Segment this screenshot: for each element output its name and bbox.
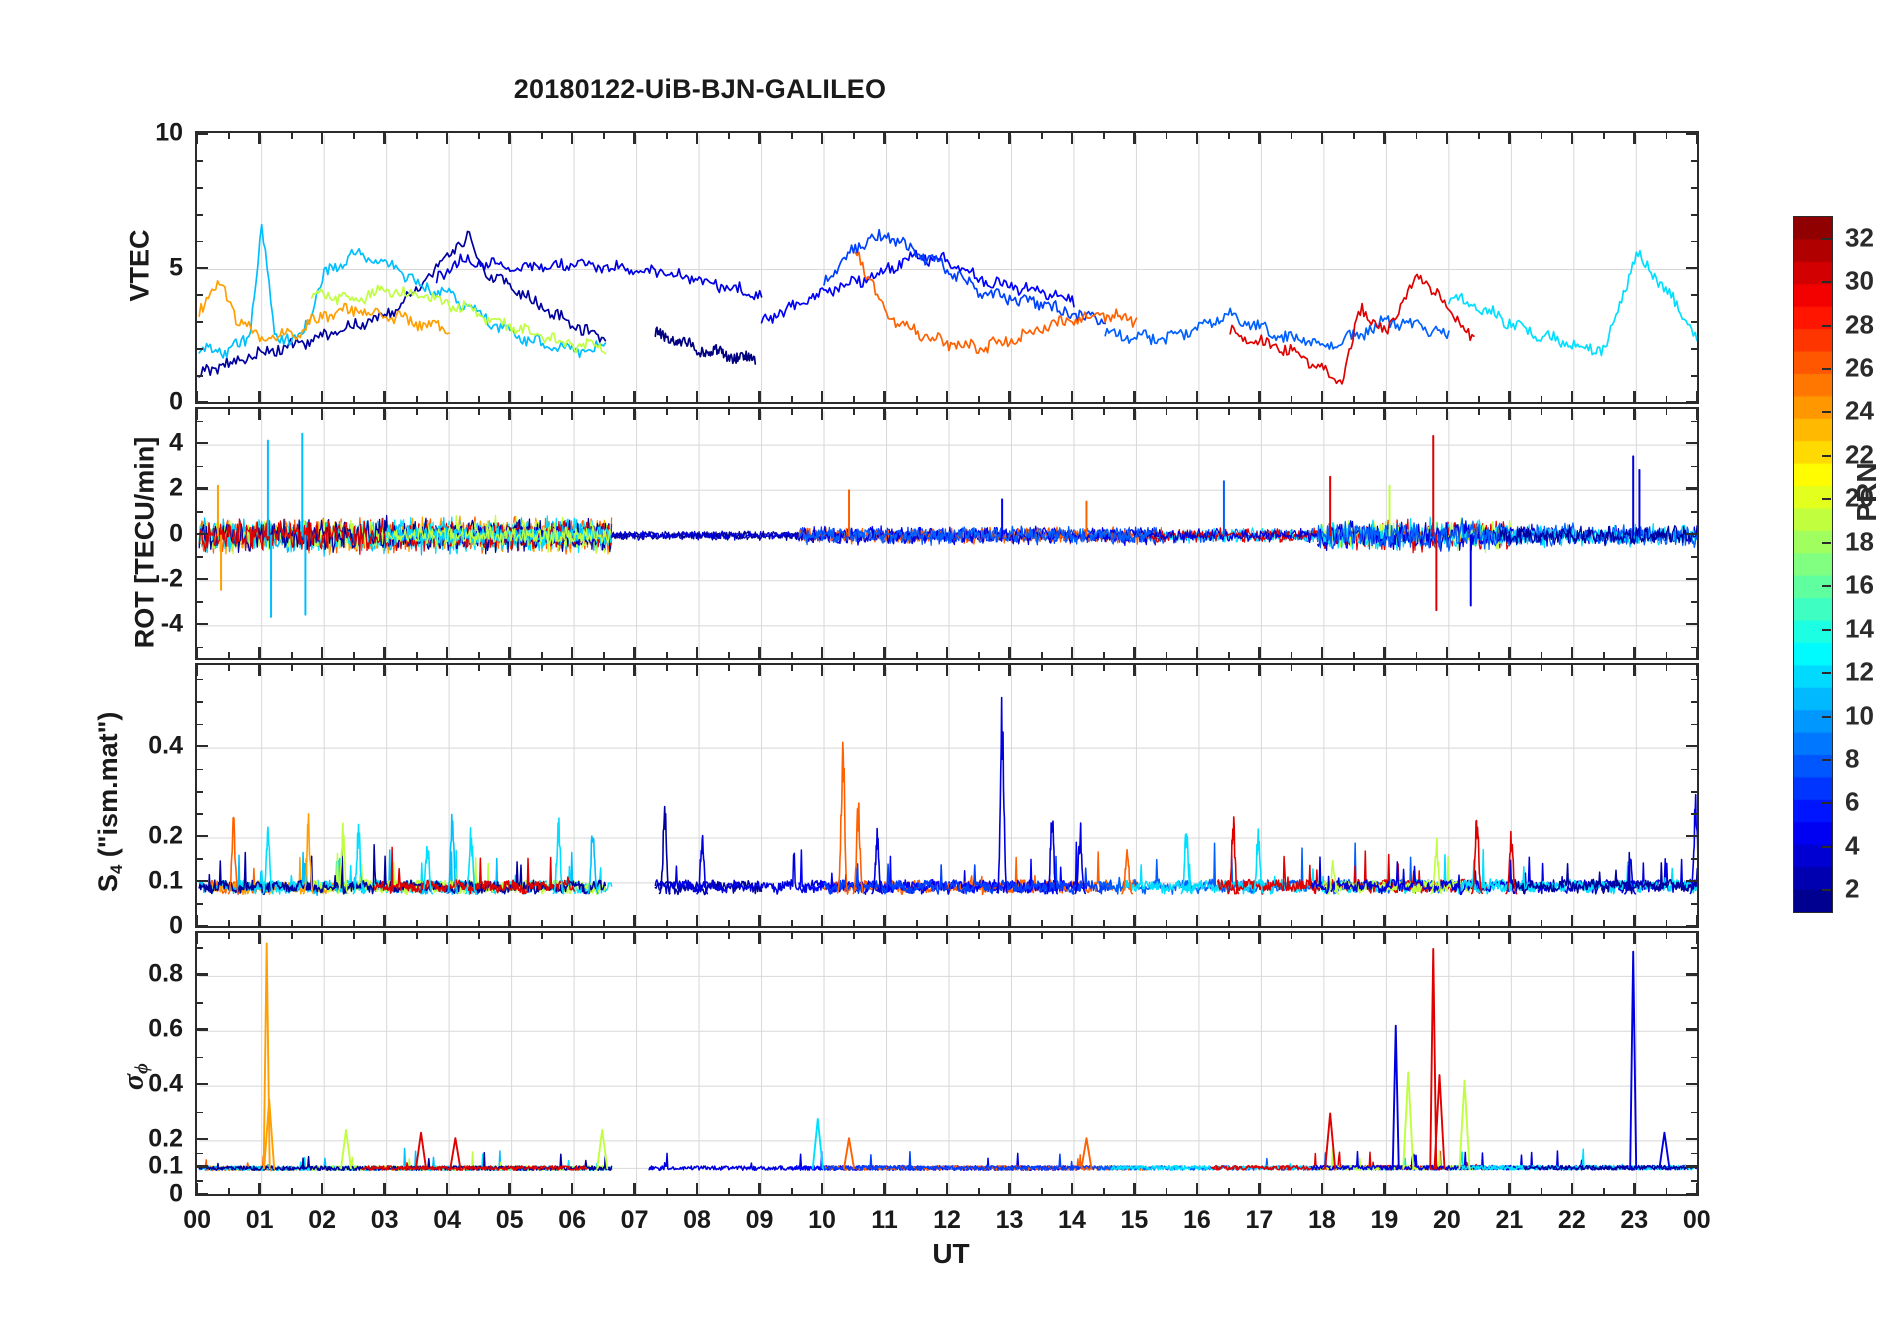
xtickmark-minor [1291,396,1293,404]
ytickmark-minor [195,375,203,377]
xtickmark-minor [791,931,793,939]
xtickmark-minor [1166,407,1168,415]
xtickmark-major [196,647,198,660]
colorbar-tick-6: 6 [1845,787,1859,818]
xtickmark-minor [416,407,418,415]
xtickmark-minor [791,920,793,928]
xtickmark-minor [1666,663,1668,671]
xtickmark-major [258,1183,260,1196]
xtickmark-minor [1228,131,1230,139]
xtickmark-minor [353,407,355,415]
xtick-9: 09 [746,1206,774,1235]
xtickmark-major [1258,915,1260,928]
ytickmark-minor [1691,556,1699,558]
colorbar-tickmark [1822,672,1831,674]
ytickmark-major [195,623,208,625]
ytickmark-minor [195,214,203,216]
ytickmark-minor [195,1180,203,1182]
xtickmark-minor [1103,920,1105,928]
xtickmark-minor [666,396,668,404]
xtickmark-minor [916,931,918,939]
xtickmark-major [1508,1183,1510,1196]
xtickmark-minor [353,1188,355,1196]
xtickmark-major [1383,391,1385,404]
xtickmark-major [1446,131,1448,144]
xtickmark-minor [853,131,855,139]
xtickmark-major [1008,663,1010,676]
xtickmark-major [446,131,448,144]
xtickmark-minor [853,396,855,404]
xtickmark-major [1633,131,1635,144]
xtickmark-major [946,391,948,404]
xtickmark-minor [978,652,980,660]
xtick-21: 21 [1495,1206,1523,1235]
xtick-18: 18 [1308,1206,1336,1235]
ytickmark-major [1686,1138,1699,1140]
xtickmark-major [383,1183,385,1196]
colorbar-gradient [1794,217,1832,912]
xtickmark-minor [603,131,605,139]
ytick-0-5: 5 [95,253,183,282]
xtickmark-major [1133,663,1135,676]
xtickmark-major [758,1183,760,1196]
ytickmark-major [1686,835,1699,837]
xtickmark-major [1071,391,1073,404]
panel-sigma-phi [195,931,1699,1196]
xtickmark-minor [291,663,293,671]
xtickmark-major [633,391,635,404]
xtickmark-major [821,131,823,144]
xtickmark-major [446,647,448,660]
colorbar-tickmark [1822,325,1831,327]
xtickmark-minor [1603,920,1605,928]
xtickmark-minor [1166,652,1168,660]
xtickmark-major [946,647,948,660]
xtickmark-major [321,1183,323,1196]
xtickmark-major [883,915,885,928]
ytickmark-minor [195,813,203,815]
xtickmark-minor [1478,396,1480,404]
ytick-1--2: -2 [95,564,183,593]
colorbar-tick-26: 26 [1845,353,1874,384]
xtickmark-major [508,647,510,660]
xtickmark-major [633,931,635,944]
xtickmark-minor [1541,931,1543,939]
xtickmark-minor [541,131,543,139]
xtickmark-major [1321,931,1323,944]
xtickmark-major [1008,647,1010,660]
xtickmark-minor [1166,1188,1168,1196]
xtickmark-major [1196,915,1198,928]
xtickmark-major [633,407,635,420]
xtickmark-minor [1228,407,1230,415]
xtickmark-minor [1353,407,1355,415]
xtickmark-major [1446,647,1448,660]
xtickmark-minor [1478,652,1480,660]
xtickmark-major [1696,647,1698,660]
xtickmark-minor [541,652,543,660]
ytickmark-minor [195,1057,203,1059]
xtickmark-major [1008,407,1010,420]
ytickmark-major [195,1028,208,1030]
xtickmark-minor [1166,131,1168,139]
xtickmark-major [196,391,198,404]
xtickmark-minor [1353,396,1355,404]
ytickmark-major [195,267,208,269]
xtickmark-major [821,407,823,420]
xtickmark-major [1383,1183,1385,1196]
xtickmark-minor [291,1188,293,1196]
ytickmark-minor [1691,214,1699,216]
xtickmark-major [258,647,260,660]
xtickmark-minor [1666,652,1668,660]
ytickmark-minor [195,556,203,558]
xtickmark-minor [916,663,918,671]
ytickmark-minor [1691,1153,1699,1155]
xtickmark-major [1071,407,1073,420]
xtickmark-minor [666,131,668,139]
xtickmark-major [1696,1183,1698,1196]
xtickmark-minor [478,931,480,939]
xtickmark-minor [228,407,230,415]
ytickmark-minor [1691,769,1699,771]
xtickmark-major [1133,407,1135,420]
xtickmark-minor [728,931,730,939]
xtickmark-minor [603,652,605,660]
xtickmark-major [1071,931,1073,944]
xtickmark-minor [1103,131,1105,139]
xtickmark-minor [1041,652,1043,660]
ytick-0-10: 10 [95,119,183,148]
xtickmark-major [571,931,573,944]
xtickmark-major [1133,131,1135,144]
ytick-1--4: -4 [95,609,183,638]
xtickmark-minor [478,131,480,139]
colorbar-tick-28: 28 [1845,309,1874,340]
xtickmark-minor [1103,396,1105,404]
xtickmark-major [508,931,510,944]
xtickmark-minor [291,396,293,404]
xtickmark-minor [978,407,980,415]
xtickmark-minor [1478,663,1480,671]
xtickmark-minor [1416,920,1418,928]
xtickmark-major [696,407,698,420]
xtickmark-minor [916,920,918,928]
xtickmark-major [321,131,323,144]
xtickmark-minor [728,663,730,671]
xtickmark-minor [1103,1188,1105,1196]
xtickmark-minor [1228,652,1230,660]
xtickmark-major [1696,131,1698,144]
xtickmark-major [1071,1183,1073,1196]
ytickmark-minor [1691,858,1699,860]
xtickmark-minor [478,652,480,660]
xtickmark-minor [1416,407,1418,415]
xtick-17: 17 [1246,1206,1274,1235]
xtickmark-minor [603,920,605,928]
xtickmark-major [1133,1183,1135,1196]
xtickmark-major [1196,1183,1198,1196]
xtickmark-minor [791,131,793,139]
ytickmark-minor [1691,421,1699,423]
xtickmark-major [1696,391,1698,404]
xtickmark-major [446,915,448,928]
colorbar-tickmark [1822,368,1831,370]
xtickmark-major [1258,663,1260,676]
xtickmark-minor [291,920,293,928]
xtickmark-major [1133,391,1135,404]
colorbar-tick-10: 10 [1845,700,1874,731]
xtickmark-major [1258,931,1260,944]
ytickmark-minor [1691,187,1699,189]
xtickmark-major [258,391,260,404]
xtickmark-major [883,663,885,676]
xtickmark-minor [1541,920,1543,928]
colorbar-tick-20: 20 [1845,483,1874,514]
ytickmark-minor [1691,511,1699,513]
xtickmark-minor [228,131,230,139]
xtickmark-minor [728,1188,730,1196]
ytick-2-0.4: 0.4 [95,732,183,761]
ytickmark-minor [195,858,203,860]
xtickmark-minor [1603,663,1605,671]
xtickmark-major [508,391,510,404]
ytickmark-minor [195,769,203,771]
xtickmark-minor [478,407,480,415]
xtickmark-major [1321,391,1323,404]
xtickmark-minor [291,407,293,415]
xtickmark-minor [853,931,855,939]
xtickmark-minor [1166,931,1168,939]
xtickmark-minor [228,931,230,939]
ytick-2-0: 0 [95,911,183,940]
xtickmark-minor [416,652,418,660]
xtickmark-minor [541,920,543,928]
xtickmark-minor [1478,407,1480,415]
ytick-0-0: 0 [95,387,183,416]
xtickmark-minor [1291,131,1293,139]
gridlines [199,135,1697,402]
xtickmark-major [758,407,760,420]
xtickmark-minor [603,407,605,415]
xtickmark-major [1696,931,1698,944]
ytickmark-minor [1691,724,1699,726]
xtickmark-minor [853,663,855,671]
ytickmark-minor [195,421,203,423]
ytick-3-0.2: 0.2 [95,1124,183,1153]
ytickmark-major [195,880,208,882]
colorbar-tick-30: 30 [1845,266,1874,297]
xtickmark-major [258,663,260,676]
ytickmark-major [1686,533,1699,535]
xtickmark-major [321,915,323,928]
xtickmark-major [508,915,510,928]
ytickmark-minor [195,294,203,296]
xtick-12: 12 [933,1206,961,1235]
xtickmark-minor [978,920,980,928]
xtickmark-major [383,391,385,404]
xtickmark-minor [1291,663,1293,671]
xtickmark-major [1383,931,1385,944]
ytickmark-minor [1691,1002,1699,1004]
xtick-4: 04 [433,1206,461,1235]
xtickmark-minor [603,1188,605,1196]
xtickmark-major [758,131,760,144]
ytickmark-minor [195,511,203,513]
xtickmark-major [1571,663,1573,676]
colorbar-tick-16: 16 [1845,570,1874,601]
xtickmark-major [1383,407,1385,420]
xtickmark-major [571,131,573,144]
xtickmark-major [1696,915,1698,928]
xtickmark-minor [1353,1188,1355,1196]
panel-s4 [195,663,1699,928]
colorbar-tick-4: 4 [1845,830,1859,861]
xtickmark-minor [228,396,230,404]
xtickmark-major [258,131,260,144]
xtickmark-minor [853,920,855,928]
xtickmark-minor [1228,663,1230,671]
xtickmark-minor [478,920,480,928]
xtickmark-minor [791,407,793,415]
colorbar-tickmark [1822,629,1831,631]
xtickmark-minor [728,407,730,415]
xtickmark-minor [1291,1188,1293,1196]
xtickmark-major [446,1183,448,1196]
ytickmark-major [1686,745,1699,747]
xtickmark-minor [291,131,293,139]
xtickmark-major [1633,1183,1635,1196]
xtickmark-minor [353,931,355,939]
xtickmark-minor [1041,663,1043,671]
xtickmark-major [1633,663,1635,676]
xtickmark-major [571,915,573,928]
ytickmark-major [1686,1083,1699,1085]
xtickmark-major [196,931,198,944]
xtickmark-minor [478,396,480,404]
ytickmark-minor [195,241,203,243]
xtickmark-minor [291,652,293,660]
xtickmark-minor [228,920,230,928]
xtickmark-minor [228,652,230,660]
xtickmark-major [1321,407,1323,420]
xtickmark-minor [853,1188,855,1196]
xtick-0: 00 [183,1206,211,1235]
xtickmark-major [571,1183,573,1196]
xtickmark-major [821,391,823,404]
xtickmark-major [508,663,510,676]
ytickmark-major [195,487,208,489]
xtickmark-minor [916,407,918,415]
xtickmark-minor [1603,131,1605,139]
ytickmark-minor [1691,375,1699,377]
xtickmark-major [633,1183,635,1196]
xtickmark-major [1008,1183,1010,1196]
xtickmark-minor [728,396,730,404]
xtickmark-major [196,915,198,928]
colorbar[interactable] [1793,216,1833,913]
xtickmark-major [1446,391,1448,404]
xtickmark-major [1008,931,1010,944]
xtickmark-minor [853,407,855,415]
xtickmark-major [1196,407,1198,420]
xtickmark-major [508,407,510,420]
xtickmark-minor [1353,931,1355,939]
xtickmark-minor [978,396,980,404]
xtickmark-major [1133,931,1135,944]
xtickmark-major [571,391,573,404]
xtickmark-major [321,407,323,420]
ytickmark-minor [1691,466,1699,468]
colorbar-tick-14: 14 [1845,613,1874,644]
ytickmark-minor [1691,813,1699,815]
xtick-11: 11 [871,1206,897,1235]
ytickmark-minor [1691,701,1699,703]
xtickmark-major [1383,915,1385,928]
panel-vtec [195,131,1699,404]
xtickmark-major [1008,391,1010,404]
xtickmark-major [633,915,635,928]
xtickmark-minor [916,652,918,660]
xtick-3: 03 [371,1206,399,1235]
xtickmark-minor [1666,131,1668,139]
xtickmark-major [1258,407,1260,420]
xtickmark-minor [1541,663,1543,671]
xtickmark-minor [1603,652,1605,660]
xtick-14: 14 [1058,1206,1086,1235]
xtickmark-major [946,407,948,420]
xtickmark-minor [1603,931,1605,939]
panel-rot [195,407,1699,660]
xtickmark-minor [1228,1188,1230,1196]
xtickmark-minor [1416,931,1418,939]
xtickmark-major [1196,391,1198,404]
xtickmark-major [758,931,760,944]
xtickmark-major [758,915,760,928]
xtickmark-major [696,663,698,676]
ytickmark-major [195,1083,208,1085]
xtickmark-major [1446,915,1448,928]
xtickmark-minor [416,920,418,928]
ytickmark-major [195,973,208,975]
xtickmark-major [1571,647,1573,660]
xtickmark-minor [353,663,355,671]
xtickmark-major [946,931,948,944]
ytickmark-major [195,533,208,535]
xtick-16: 16 [1183,1206,1211,1235]
xtickmark-major [633,647,635,660]
xtickmark-major [383,131,385,144]
xtickmark-major [1383,647,1385,660]
xtickmark-major [1571,131,1573,144]
ytickmark-minor [195,701,203,703]
xtickmark-minor [1291,407,1293,415]
xtickmark-minor [603,396,605,404]
xtickmark-major [883,1183,885,1196]
ytickmark-major [1686,578,1699,580]
xtickmark-major [446,931,448,944]
xtickmark-minor [978,931,980,939]
xtickmark-major [571,663,573,676]
ytickmark-minor [195,466,203,468]
xtickmark-major [1633,407,1635,420]
xtickmark-minor [1041,407,1043,415]
xtickmark-major [196,131,198,144]
xtickmark-major [1571,915,1573,928]
xtickmark-minor [1103,407,1105,415]
xtickmark-minor [541,663,543,671]
xtickmark-major [383,915,385,928]
